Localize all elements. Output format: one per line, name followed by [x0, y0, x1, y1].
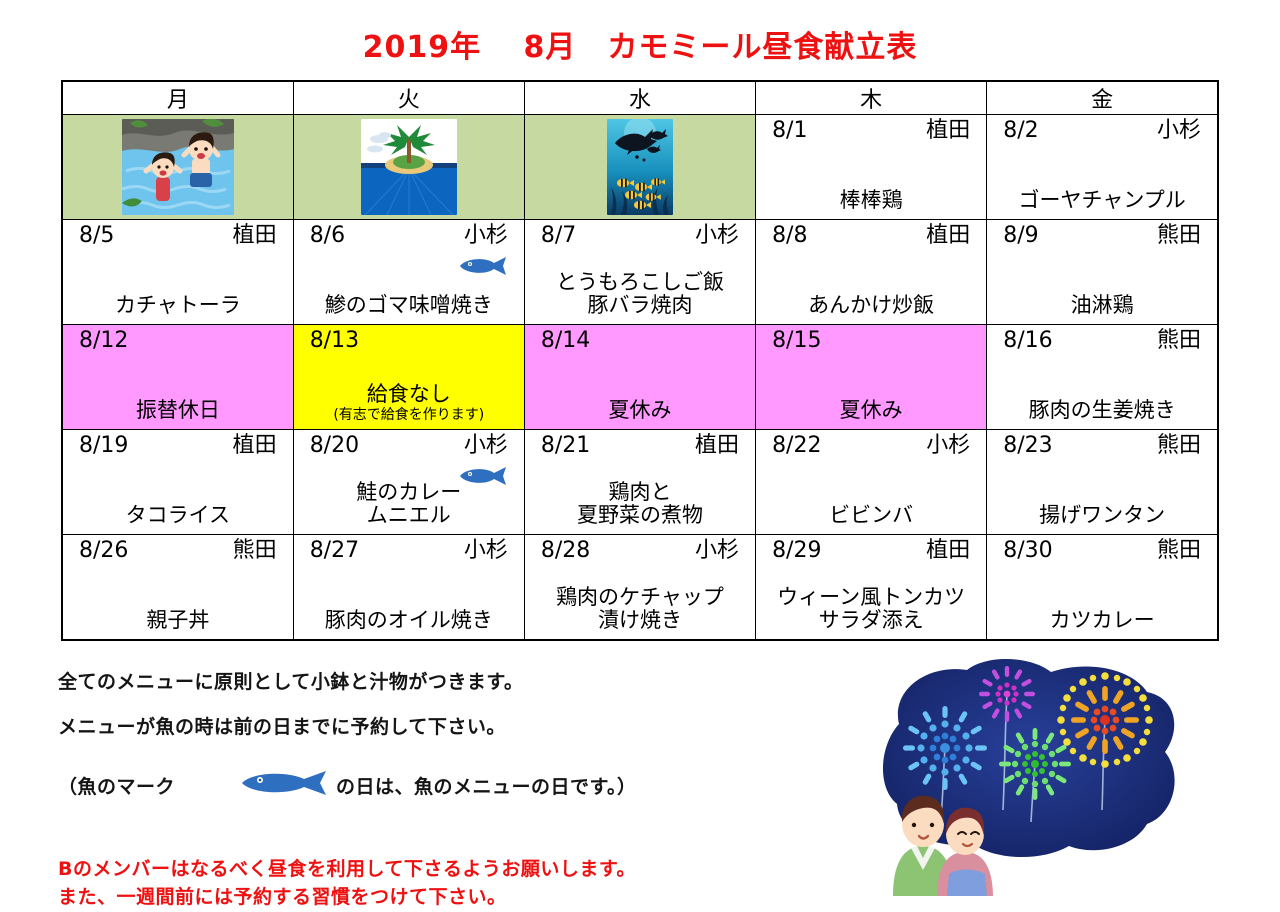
day-menu-text: ウィーン風トンカツ サラダ添え	[756, 586, 986, 633]
day-cell-header: 8/21植田	[525, 430, 755, 458]
day-date: 8/23	[1003, 434, 1052, 458]
note-red-line-2: また、一週間前には予約する習慣をつけて下さい。	[58, 883, 818, 912]
calendar-day-cell-8-6[interactable]: 8/6小杉 鯵のゴマ味噌焼き	[293, 220, 524, 325]
weekday-header-3: 木	[756, 81, 987, 115]
day-cell-header: 8/16熊田	[987, 325, 1217, 353]
day-staff-name: 小杉	[464, 539, 508, 563]
day-menu-main: 親子丼	[146, 608, 209, 632]
day-cell-header: 8/12	[63, 325, 293, 353]
calendar-day-cell-8-5[interactable]: 8/5植田カチャトーラ	[62, 220, 293, 325]
day-staff-name: 小杉	[695, 224, 739, 248]
day-date: 8/20	[310, 434, 359, 458]
day-cell-header: 8/14	[525, 325, 755, 353]
calendar-day-cell-8-12[interactable]: 8/12振替休日	[62, 325, 293, 430]
day-date: 8/22	[772, 434, 821, 458]
day-staff-name: 小杉	[464, 224, 508, 248]
day-menu-main: ビビンバ	[829, 503, 913, 527]
calendar-image-cell[interactable]	[62, 115, 293, 220]
day-date: 8/2	[1003, 119, 1038, 143]
day-cell-header: 8/6小杉	[294, 220, 524, 248]
day-date: 8/26	[79, 539, 128, 563]
day-date: 8/7	[541, 224, 576, 248]
day-cell-header: 8/2小杉	[987, 115, 1217, 143]
fireworks-illustration	[855, 658, 1185, 896]
day-cell-header: 8/9熊田	[987, 220, 1217, 248]
calendar-week-row: 8/26熊田親子丼8/27小杉豚肉のオイル焼き8/28小杉鶏肉のケチャップ 漬け…	[62, 535, 1218, 641]
note-line-3-prefix: （魚のマーク	[58, 773, 175, 802]
day-cell-header: 8/29植田	[756, 535, 986, 563]
note-request-red: Bのメンバーはなるべく昼食を利用して下さるようお願いします。 また、一週間前には…	[58, 855, 818, 912]
day-menu-text: 夏休み	[525, 399, 755, 423]
calendar-week-row: 8/19植田タコライス8/20小杉 鮭のカレー ムニエル8/21植田鶏肉と 夏野…	[62, 430, 1218, 535]
day-date: 8/13	[310, 329, 359, 353]
day-staff-name: 植田	[233, 224, 277, 248]
day-menu-main: 鶏肉のケチャップ 漬け焼き	[556, 585, 724, 633]
day-menu-text: 給食なし(有志で給食を作ります)	[294, 383, 524, 423]
note-red-line-1: Bのメンバーはなるべく昼食を利用して下さるようお願いします。	[58, 855, 818, 884]
calendar-body: 8/1植田棒棒鶏8/2小杉ゴーヤチャンプル8/5植田カチャトーラ8/6小杉 鯵の…	[62, 115, 1218, 641]
calendar-day-cell-8-7[interactable]: 8/7小杉とうもろこしご飯 豚バラ焼肉	[524, 220, 755, 325]
day-menu-text: 鶏肉のケチャップ 漬け焼き	[525, 586, 755, 633]
day-cell-header: 8/8植田	[756, 220, 986, 248]
day-staff-name: 熊田	[1157, 434, 1201, 458]
calendar-day-cell-8-1[interactable]: 8/1植田棒棒鶏	[756, 115, 987, 220]
fish-icon	[458, 256, 508, 276]
day-menu-main: 夏休み	[608, 398, 671, 422]
day-staff-name: 植田	[233, 434, 277, 458]
day-menu-main: 鮭のカレー ムニエル	[356, 480, 461, 528]
day-cell-header: 8/22小杉	[756, 430, 986, 458]
notes-section: 全てのメニューに原則として小鉢と汁物がつきます。 メニューが魚の時は前の日までに…	[58, 668, 818, 912]
day-menu-main: 棒棒鶏	[840, 188, 903, 212]
day-date: 8/27	[310, 539, 359, 563]
calendar-day-cell-8-20[interactable]: 8/20小杉 鮭のカレー ムニエル	[293, 430, 524, 535]
note-line-1: 全てのメニューに原則として小鉢と汁物がつきます。	[58, 668, 818, 697]
day-staff-name: 植田	[926, 119, 970, 143]
day-menu-text: 油淋鶏	[987, 294, 1217, 318]
day-date: 8/16	[1003, 329, 1052, 353]
calendar-header-row: 月火水木金	[62, 81, 1218, 115]
day-menu-main: ゴーヤチャンプル	[1019, 188, 1186, 212]
day-cell-header: 8/1植田	[756, 115, 986, 143]
calendar-image-cell[interactable]	[524, 115, 755, 220]
calendar-day-cell-8-23[interactable]: 8/23熊田揚げワンタン	[987, 430, 1218, 535]
weekday-header-1: 火	[293, 81, 524, 115]
day-menu-main: タコライス	[126, 503, 230, 527]
lunch-menu-calendar: 月火水木金	[61, 80, 1219, 641]
day-staff-name: 小杉	[464, 434, 508, 458]
day-menu-text: あんかけ炒飯	[756, 294, 986, 318]
day-staff-name: 植田	[695, 434, 739, 458]
calendar-week-row: 8/12振替休日8/13給食なし(有志で給食を作ります)8/14夏休み8/15夏…	[62, 325, 1218, 430]
day-menu-main: 振替休日	[136, 398, 220, 422]
day-menu-text: 鶏肉と 夏野菜の煮物	[525, 481, 755, 528]
day-menu-text: カツカレー	[987, 609, 1217, 633]
day-staff-name: 小杉	[1157, 119, 1201, 143]
day-cell-header: 8/23熊田	[987, 430, 1217, 458]
day-menu-main: カツカレー	[1050, 608, 1155, 632]
day-menu-text: 親子丼	[63, 609, 293, 633]
day-staff-name: 熊田	[1157, 329, 1201, 353]
calendar-day-cell-8-16[interactable]: 8/16熊田豚肉の生姜焼き	[987, 325, 1218, 430]
underwater-shark-fish-icon	[607, 119, 673, 215]
day-date: 8/30	[1003, 539, 1052, 563]
calendar-day-cell-8-15[interactable]: 8/15夏休み	[756, 325, 987, 430]
calendar-day-cell-8-30[interactable]: 8/30熊田カツカレー	[987, 535, 1218, 641]
calendar-week-row: 8/5植田カチャトーラ8/6小杉 鯵のゴマ味噌焼き8/7小杉とうもろこしご飯 豚…	[62, 220, 1218, 325]
calendar-day-cell-8-9[interactable]: 8/9熊田油淋鶏	[987, 220, 1218, 325]
day-menu-main: 鶏肉と 夏野菜の煮物	[577, 480, 703, 528]
day-menu-main: 油淋鶏	[1071, 293, 1134, 317]
day-staff-name: 植田	[926, 539, 970, 563]
kids-swimming-river-icon	[122, 119, 234, 215]
day-menu-text: 鯵のゴマ味噌焼き	[294, 294, 524, 318]
day-date: 8/21	[541, 434, 590, 458]
calendar-day-cell-8-28[interactable]: 8/28小杉鶏肉のケチャップ 漬け焼き	[524, 535, 755, 641]
day-menu-text: 豚肉のオイル焼き	[294, 609, 524, 633]
day-staff-name: 小杉	[926, 434, 970, 458]
day-cell-header: 8/15	[756, 325, 986, 353]
calendar-week-row: 8/1植田棒棒鶏8/2小杉ゴーヤチャンプル	[62, 115, 1218, 220]
calendar-day-cell-8-21[interactable]: 8/21植田鶏肉と 夏野菜の煮物	[524, 430, 755, 535]
day-staff-name: 小杉	[695, 539, 739, 563]
day-cell-header: 8/13	[294, 325, 524, 353]
day-menu-text: 夏休み	[756, 399, 986, 423]
day-menu-text: ゴーヤチャンプル	[987, 189, 1217, 213]
calendar-day-cell-8-26[interactable]: 8/26熊田親子丼	[62, 535, 293, 641]
day-menu-text: 振替休日	[63, 399, 293, 423]
calendar-container: 月火水木金	[61, 80, 1219, 641]
day-menu-main: 揚げワンタン	[1039, 503, 1165, 527]
tropical-island-palm-tree-icon	[361, 119, 457, 215]
day-menu-text: タコライス	[63, 504, 293, 528]
day-date: 8/9	[1003, 224, 1038, 248]
day-date: 8/14	[541, 329, 590, 353]
weekday-header-4: 金	[987, 81, 1218, 115]
calendar-day-cell-8-29[interactable]: 8/29植田ウィーン風トンカツ サラダ添え	[756, 535, 987, 641]
day-menu-text: とうもろこしご飯 豚バラ焼肉	[525, 271, 755, 318]
calendar-day-cell-8-8[interactable]: 8/8植田あんかけ炒飯	[756, 220, 987, 325]
calendar-image-cell[interactable]	[293, 115, 524, 220]
note-side-dishes: 全てのメニューに原則として小鉢と汁物がつきます。	[58, 668, 818, 697]
day-date: 8/29	[772, 539, 821, 563]
day-menu-main: あんかけ炒飯	[808, 293, 934, 317]
day-cell-header: 8/20小杉	[294, 430, 524, 458]
day-menu-main: 夏休み	[840, 398, 903, 422]
day-cell-header: 8/7小杉	[525, 220, 755, 248]
day-menu-main: 豚肉のオイル焼き	[325, 608, 493, 632]
day-staff-name: 熊田	[233, 539, 277, 563]
note-fish-reservation: メニューが魚の時は前の日までに予約して下さい。 （魚のマーク の日は、魚のメニュ…	[58, 713, 818, 833]
weekday-header-2: 水	[524, 81, 755, 115]
day-menu-text: 棒棒鶏	[756, 189, 986, 213]
day-staff-name: 熊田	[1157, 224, 1201, 248]
day-menu-subnote: (有志で給食を作ります)	[298, 407, 520, 423]
day-date: 8/19	[79, 434, 128, 458]
day-date: 8/1	[772, 119, 807, 143]
day-date: 8/12	[79, 329, 128, 353]
day-menu-main: カチャトーラ	[115, 293, 241, 317]
fish-icon	[181, 741, 330, 833]
day-menu-main: 給食なし	[367, 382, 451, 406]
day-menu-main: とうもろこしご飯 豚バラ焼肉	[556, 270, 724, 318]
day-date: 8/5	[79, 224, 114, 248]
day-date: 8/15	[772, 329, 821, 353]
day-staff-name: 植田	[926, 224, 970, 248]
day-menu-main: 豚肉の生姜焼き	[1029, 398, 1176, 422]
day-cell-header: 8/30熊田	[987, 535, 1217, 563]
day-cell-header: 8/28小杉	[525, 535, 755, 563]
note-line-3-suffix: の日は、魚のメニューの日です。）	[336, 773, 637, 802]
page-title: 2019年 8月 カモミール昼食献立表	[0, 0, 1280, 76]
calendar-day-cell-8-14[interactable]: 8/14夏休み	[524, 325, 755, 430]
calendar-day-cell-8-27[interactable]: 8/27小杉豚肉のオイル焼き	[293, 535, 524, 641]
calendar-day-cell-8-22[interactable]: 8/22小杉ビビンバ	[756, 430, 987, 535]
day-staff-name: 熊田	[1157, 539, 1201, 563]
day-menu-text: 鮭のカレー ムニエル	[294, 481, 524, 528]
day-menu-main: ウィーン風トンカツ サラダ添え	[777, 585, 965, 633]
weekday-header-0: 月	[62, 81, 293, 115]
day-date: 8/8	[772, 224, 807, 248]
day-menu-text: 豚肉の生姜焼き	[987, 399, 1217, 423]
day-menu-text: ビビンバ	[756, 504, 986, 528]
calendar-day-cell-8-19[interactable]: 8/19植田タコライス	[62, 430, 293, 535]
day-menu-text: 揚げワンタン	[987, 504, 1217, 528]
day-cell-header: 8/5植田	[63, 220, 293, 248]
calendar-day-cell-8-13[interactable]: 8/13給食なし(有志で給食を作ります)	[293, 325, 524, 430]
note-line-2: メニューが魚の時は前の日までに予約して下さい。	[58, 713, 818, 742]
day-cell-header: 8/19植田	[63, 430, 293, 458]
note-line-3: （魚のマーク の日は、魚のメニューの日です。）	[58, 741, 818, 833]
calendar-day-cell-8-2[interactable]: 8/2小杉ゴーヤチャンプル	[987, 115, 1218, 220]
day-cell-header: 8/26熊田	[63, 535, 293, 563]
day-menu-text: カチャトーラ	[63, 294, 293, 318]
day-date: 8/28	[541, 539, 590, 563]
day-menu-main: 鯵のゴマ味噌焼き	[325, 293, 493, 317]
day-date: 8/6	[310, 224, 345, 248]
day-cell-header: 8/27小杉	[294, 535, 524, 563]
